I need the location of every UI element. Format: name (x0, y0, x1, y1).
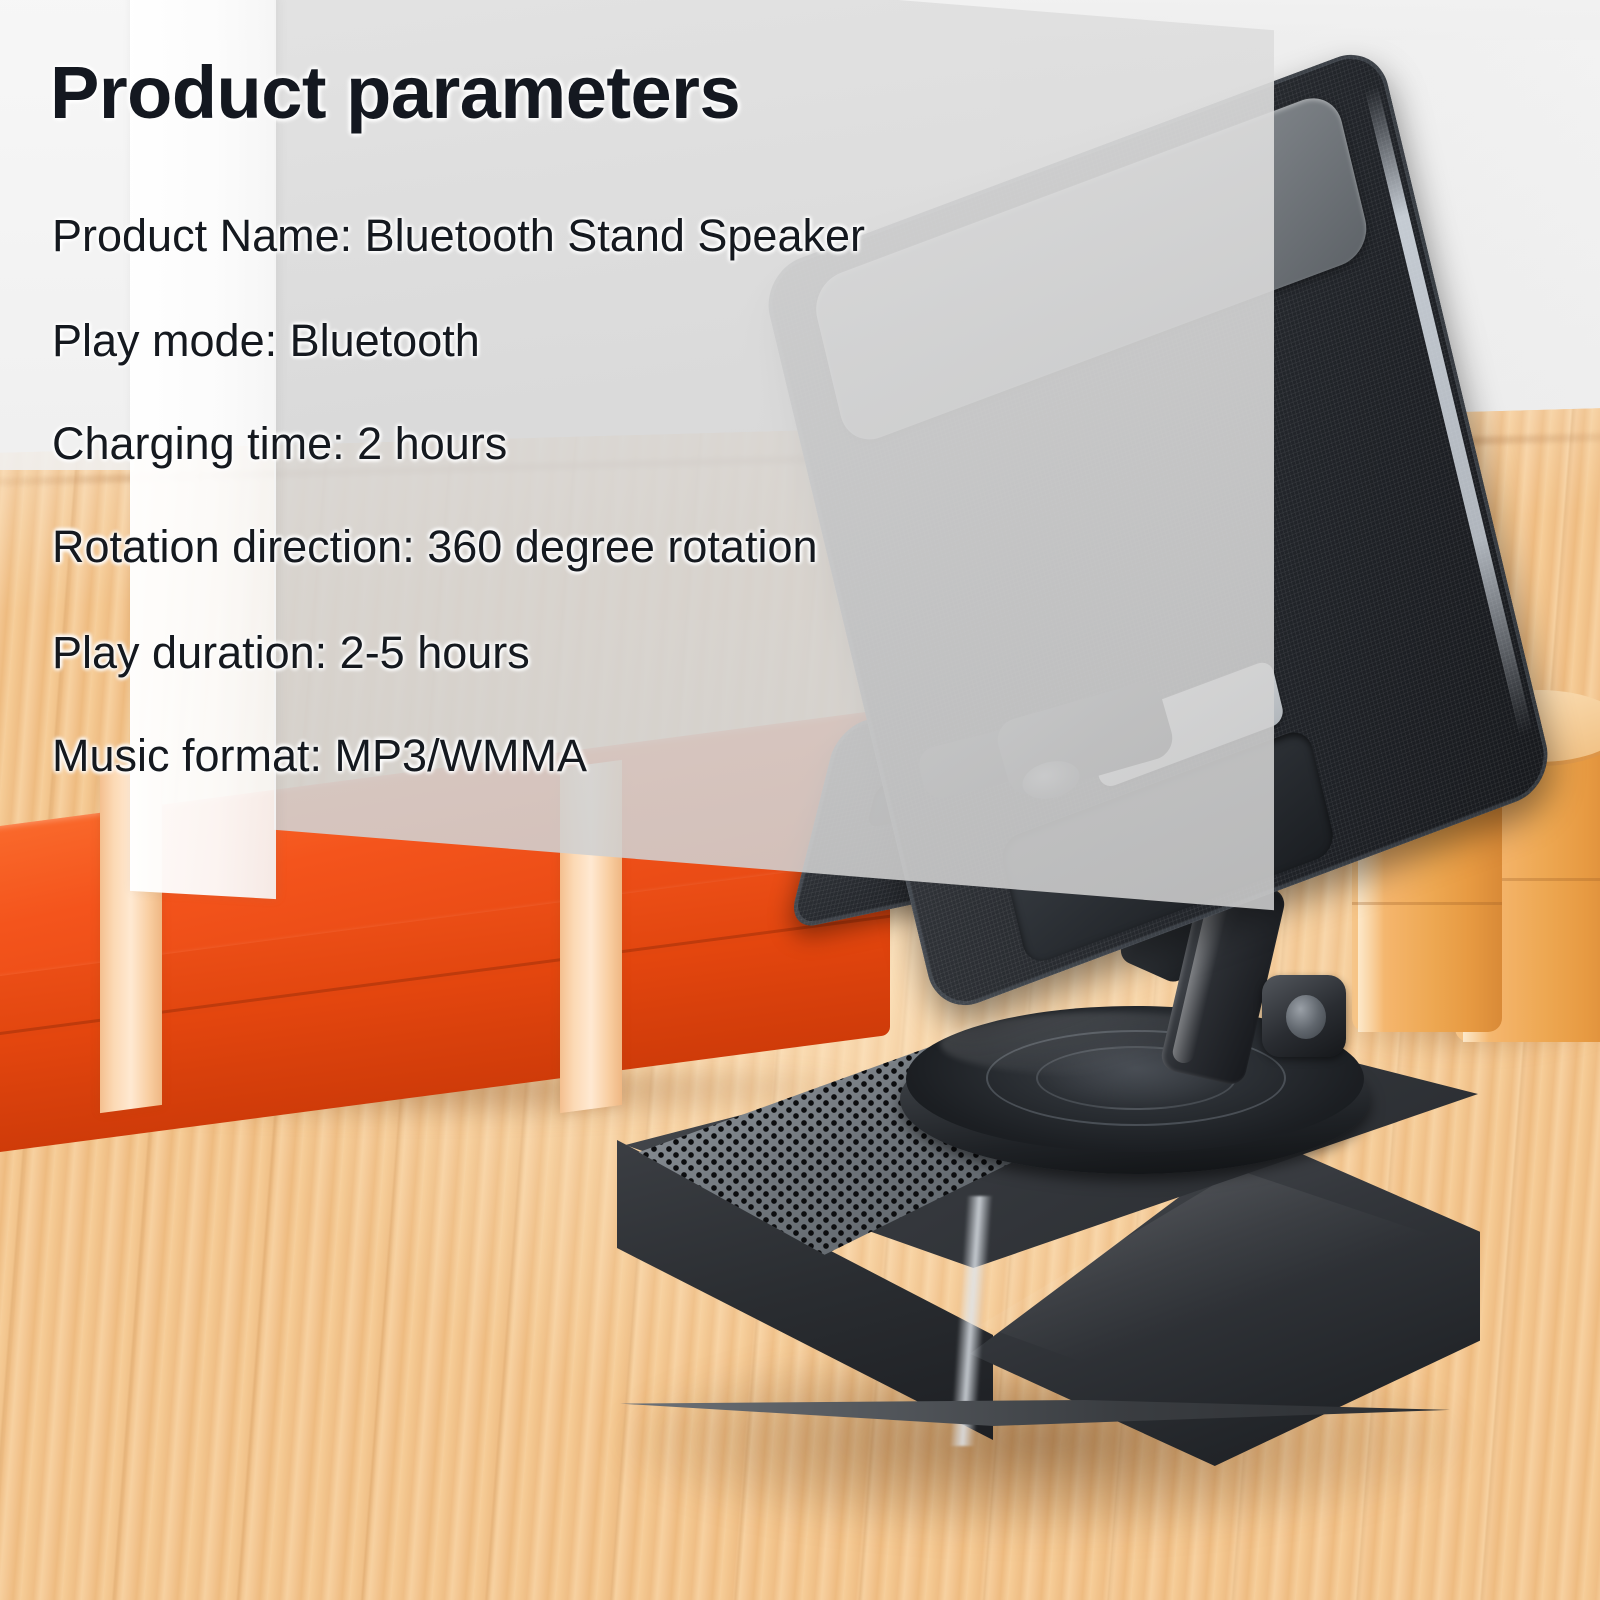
page-title: Product parameters (50, 50, 740, 135)
spec-music-format: Music format: MP3/WMMA (52, 730, 587, 782)
product-marketing-image: Product parameters Product Name: Bluetoo… (0, 0, 1600, 1600)
spec-play-duration: Play duration: 2-5 hours (52, 627, 530, 679)
spec-charging-time: Charging time: 2 hours (52, 418, 507, 470)
text-layer: Product parameters Product Name: Bluetoo… (0, 0, 1600, 1600)
spec-product-name: Product Name: Bluetooth Stand Speaker (52, 210, 865, 262)
spec-rotation-direction: Rotation direction: 360 degree rotation (52, 521, 818, 573)
spec-play-mode: Play mode: Bluetooth (52, 315, 480, 367)
